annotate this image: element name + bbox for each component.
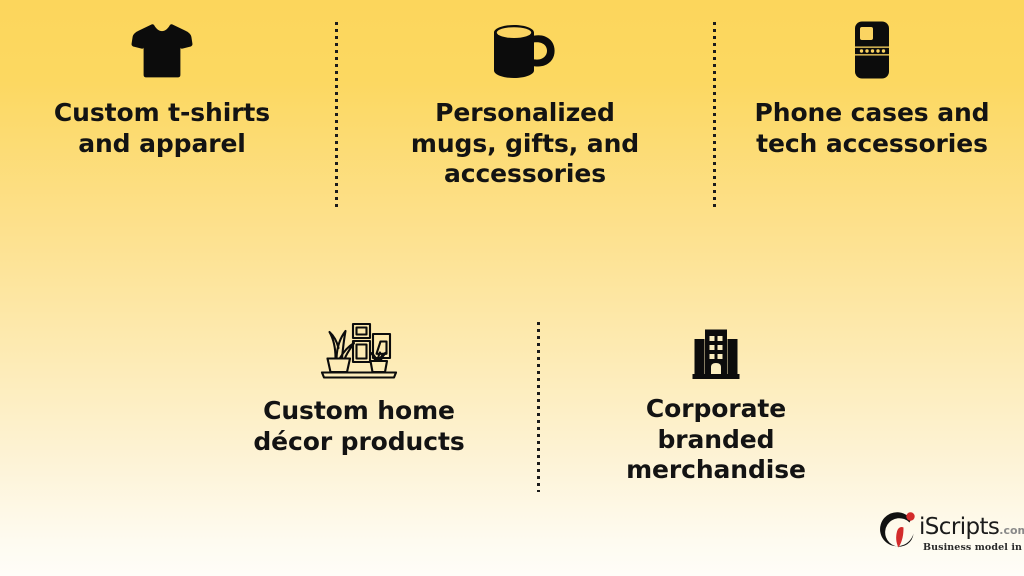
feature-caption: Personalized mugs, gifts, and accessorie… bbox=[400, 98, 650, 190]
dotted-divider bbox=[537, 322, 540, 492]
feature-caption: Phone cases and tech accessories bbox=[752, 98, 992, 159]
feature-item-tshirts: Custom t-shirts and apparel bbox=[36, 18, 288, 159]
feature-item-mugs: Personalized mugs, gifts, and accessorie… bbox=[400, 18, 650, 190]
feature-item-phone-cases: Phone cases and tech accessories bbox=[752, 18, 992, 159]
phone-case-icon bbox=[752, 18, 992, 80]
office-building-icon bbox=[600, 320, 832, 380]
mug-icon bbox=[400, 18, 650, 80]
feature-row-top: Custom t-shirts and apparel Personalized… bbox=[0, 0, 1024, 225]
logo-name: iScripts bbox=[919, 514, 999, 540]
feature-caption: Custom home décor products bbox=[235, 396, 483, 457]
tshirt-icon bbox=[36, 18, 288, 80]
feature-row-bottom: Custom home décor products Cor bbox=[0, 300, 1024, 530]
slide-canvas: Custom t-shirts and apparel Personalized… bbox=[0, 0, 1024, 576]
feature-item-corporate: Corporate branded merchandise bbox=[600, 320, 832, 486]
feature-caption: Custom t-shirts and apparel bbox=[36, 98, 288, 159]
home-decor-shelf-icon bbox=[235, 320, 483, 382]
feature-item-home-decor: Custom home décor products bbox=[235, 320, 483, 457]
feature-caption: Corporate branded merchandise bbox=[600, 394, 832, 486]
iscripts-logo[interactable]: iScripts.com Business model in a script bbox=[879, 505, 1019, 569]
dotted-divider bbox=[335, 22, 338, 208]
logo-tld: .com bbox=[999, 524, 1024, 537]
logo-wordmark: iScripts.com bbox=[919, 514, 1024, 540]
iscripts-logo-mark-icon bbox=[879, 509, 923, 555]
dotted-divider bbox=[713, 22, 716, 208]
logo-tagline: Business model in a script bbox=[923, 542, 1024, 553]
